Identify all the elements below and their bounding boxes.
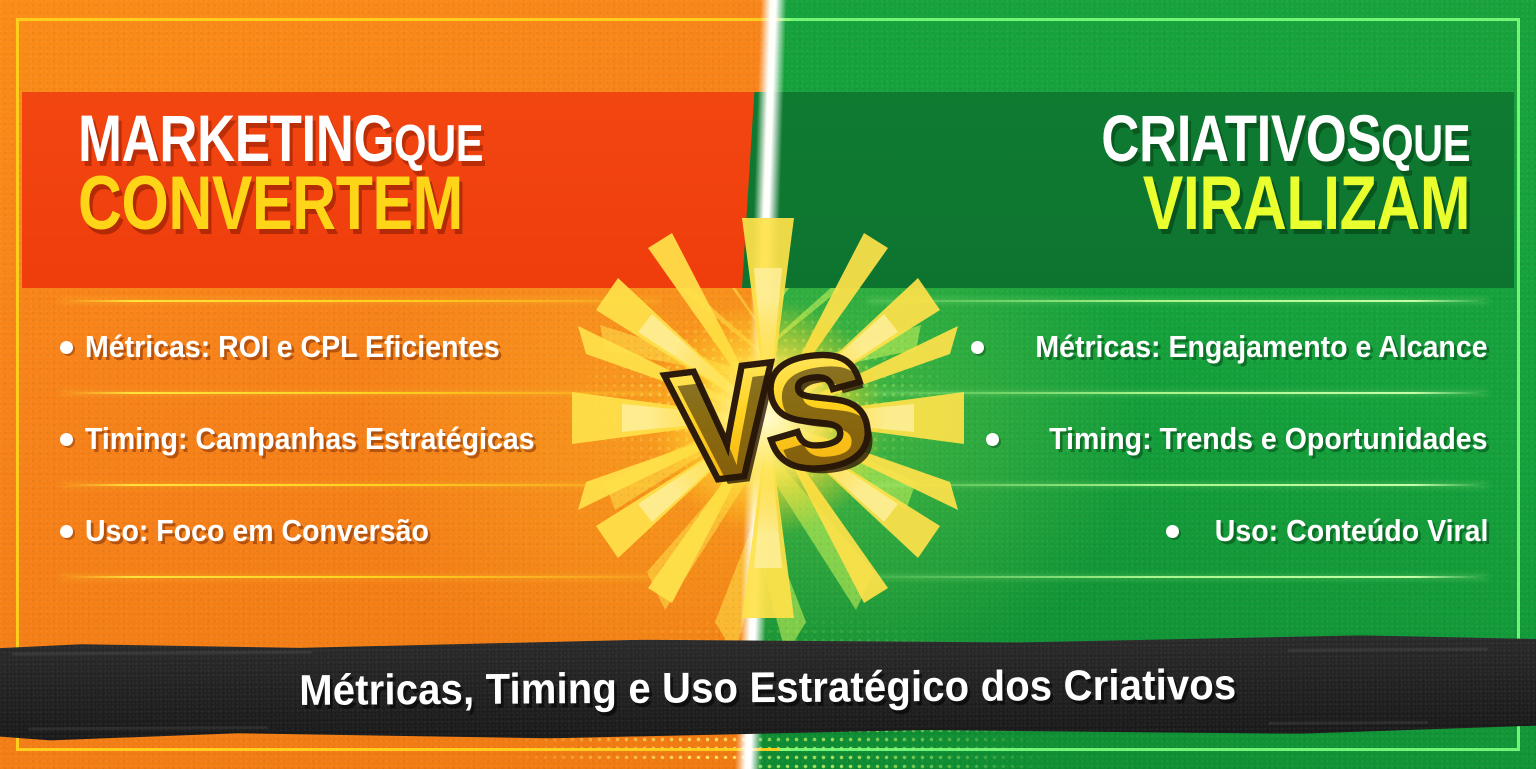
bullet-dot-icon bbox=[1166, 525, 1179, 538]
vs-label: VS bbox=[664, 321, 872, 516]
footer-caption-wrap: Métricas, Timing e Uso Estratégico dos C… bbox=[0, 635, 1536, 740]
right-bullet-label: Timing: Trends e Oportunidades bbox=[1050, 421, 1488, 457]
footer-caption: Métricas, Timing e Uso Estratégico dos C… bbox=[299, 661, 1236, 716]
right-headline-second-line: VIRALIZAM bbox=[1101, 169, 1470, 239]
bullet-dot-icon bbox=[60, 341, 73, 354]
left-headline-second-line: CONVERTEM bbox=[78, 169, 483, 239]
bullet-dot-icon bbox=[60, 433, 73, 446]
right-bullet-label: Uso: Conteúdo Viral bbox=[1214, 513, 1488, 549]
vs-badge: VS bbox=[558, 208, 978, 628]
bullet-dot-icon bbox=[986, 433, 999, 446]
left-bullet-label: Métricas: ROI e CPL Eficientes bbox=[85, 329, 500, 365]
left-bullet-label: Uso: Foco em Conversão bbox=[85, 513, 429, 549]
bullet-dot-icon bbox=[60, 525, 73, 538]
right-headline: CRIATIVOSQUE VIRALIZAM bbox=[1009, 108, 1470, 239]
left-headline: MARKETINGQUE CONVERTEM bbox=[78, 108, 584, 239]
versus-poster: MARKETINGQUE CONVERTEM CRIATIVOSQUE VIRA… bbox=[0, 0, 1536, 769]
right-bullet-label: Métricas: Engajamento e Alcance bbox=[1036, 329, 1488, 365]
left-bullet-label: Timing: Campanhas Estratégicas bbox=[85, 421, 535, 457]
